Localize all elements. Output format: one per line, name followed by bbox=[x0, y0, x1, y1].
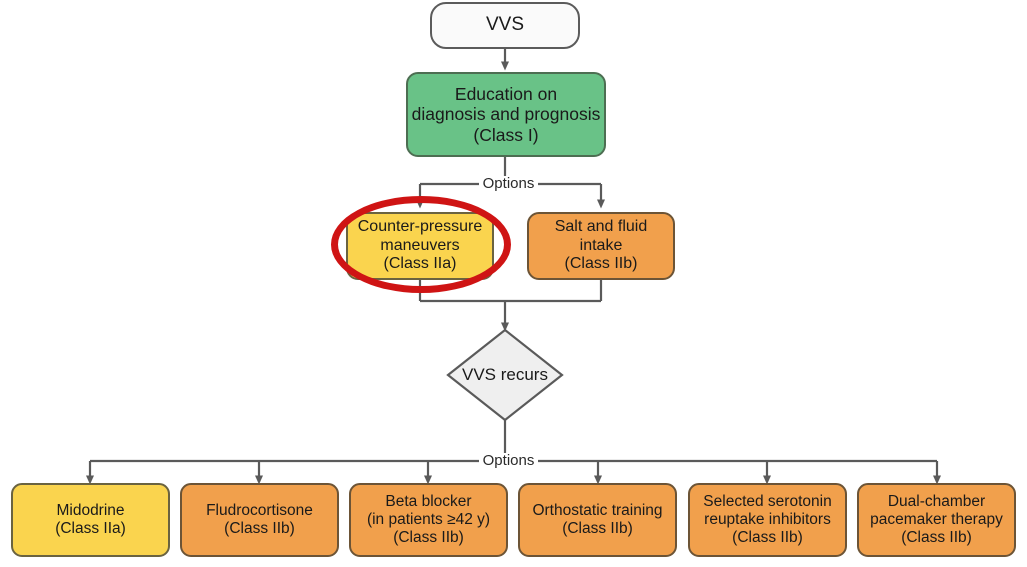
node-pacemaker-label: Dual-chamber pacemaker therapy (Class II… bbox=[870, 493, 1003, 547]
edge-label-options-upper: Options bbox=[479, 176, 538, 191]
node-vvs-recurs-label: VVS recurs bbox=[462, 365, 548, 385]
node-beta-blocker: Beta blocker (in patients ≥42 y) (Class … bbox=[349, 483, 508, 557]
node-pacemaker: Dual-chamber pacemaker therapy (Class II… bbox=[857, 483, 1016, 557]
flowchart-canvas: VVS Education on diagnosis and prognosis… bbox=[0, 0, 1027, 567]
node-salt-fluid: Salt and fluid intake (Class IIb) bbox=[527, 212, 675, 280]
node-fludrocortisone: Fludrocortisone (Class IIb) bbox=[180, 483, 339, 557]
node-vvs-start: VVS bbox=[430, 2, 580, 49]
node-midodrine-label: Midodrine (Class IIa) bbox=[55, 502, 126, 538]
edge-label-options-lower-text: Options bbox=[483, 452, 535, 469]
edge-label-options-upper-text: Options bbox=[483, 175, 535, 192]
node-orthostatic-training-label: Orthostatic training (Class IIb) bbox=[532, 502, 662, 538]
node-vvs-recurs: VVS recurs bbox=[448, 330, 562, 420]
node-midodrine: Midodrine (Class IIa) bbox=[11, 483, 170, 557]
node-salt-fluid-label: Salt and fluid intake (Class IIb) bbox=[555, 218, 648, 274]
red-ellipse-highlight bbox=[331, 196, 511, 293]
node-education: Education on diagnosis and prognosis (Cl… bbox=[406, 72, 606, 157]
node-education-label: Education on diagnosis and prognosis (Cl… bbox=[412, 84, 601, 145]
node-fludrocortisone-label: Fludrocortisone (Class IIb) bbox=[206, 502, 313, 538]
node-orthostatic-training: Orthostatic training (Class IIb) bbox=[518, 483, 677, 557]
node-vvs-start-label: VVS bbox=[486, 14, 524, 36]
node-ssri-label: Selected serotonin reuptake inhibitors (… bbox=[703, 493, 831, 547]
node-beta-blocker-label: Beta blocker (in patients ≥42 y) (Class … bbox=[367, 493, 490, 547]
edge-label-options-lower: Options bbox=[479, 453, 538, 468]
node-ssri: Selected serotonin reuptake inhibitors (… bbox=[688, 483, 847, 557]
